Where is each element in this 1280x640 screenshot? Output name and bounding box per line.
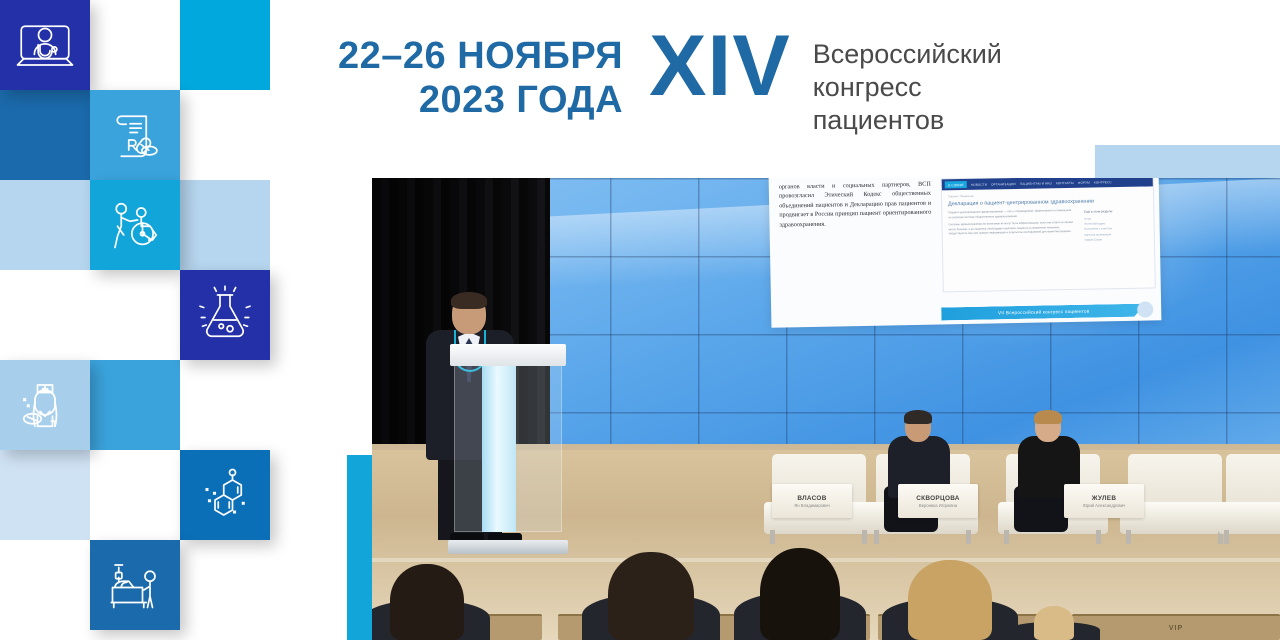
molecule-structure-icon [195, 465, 255, 525]
slide-logo-icon [1137, 301, 1153, 317]
nameplate-given-name: Ян Владимирович [794, 503, 829, 508]
nurse-medication-icon [15, 375, 75, 435]
audience-head [608, 552, 694, 640]
slide-body-text: органов власти и социальных партнеров, В… [779, 180, 932, 230]
website-sidebar-item: График Союза [1085, 237, 1148, 244]
website-heading: Декларация о пациент-центрированном здра… [948, 197, 1147, 207]
website-nav-item: КОНГРЕСС [1094, 180, 1112, 184]
panelist-hair [1034, 410, 1062, 424]
audience-seat: VIP [1072, 614, 1280, 640]
website-sidebar: Ещё в этом разделе: УставЭтический кодек… [1084, 208, 1148, 243]
tile-plain-lightblue-3 [0, 450, 90, 540]
event-dates-line2: 2023 ГОДА [338, 78, 623, 122]
poster-canvas: 22–26 НОЯБРЯ 2023 ГОДА XIV Всероссийский… [0, 0, 1280, 640]
tile-plain-blue-1 [0, 90, 90, 180]
prescription-pills-icon [105, 105, 165, 165]
nameplate-surname: ВЛАСОВ [797, 495, 826, 502]
icon-mosaic [0, 0, 290, 640]
tile-plain-lightblue-2 [180, 180, 270, 270]
hospital-bed-icon [105, 555, 165, 615]
congress-hall-photo: органов власти и социальных партнеров, В… [372, 178, 1280, 640]
tile-hospital-bed [90, 540, 180, 630]
congress-title: Всероссийский конгресс пациентов [813, 38, 1002, 137]
website-sidebar-items: УставЭтический кодексПоложения о членств… [1084, 215, 1148, 243]
website-nav-item: О СОЮЗЕ [945, 181, 967, 188]
projected-slide: органов власти и социальных партнеров, В… [769, 178, 1162, 328]
event-dates: 22–26 НОЯБРЯ 2023 ГОДА [338, 34, 623, 122]
edition-roman-numeral: XIV [649, 26, 791, 108]
tile-prescription [90, 90, 180, 180]
audience-head [908, 560, 992, 640]
speaker-hair [451, 292, 487, 309]
slide-banner: VII Всероссийский конгресс пациентов [941, 304, 1146, 321]
tile-plain-blue-2 [90, 360, 180, 450]
slide-website-mockup: О СОЮЗЕНОВОСТИОРГАНИЗАЦИИПАЦИЕНТАМ И НКО… [941, 178, 1156, 292]
website-body: Главная / Пациентам Декларация о пациент… [942, 186, 1154, 242]
lectern-lit-column [482, 364, 516, 532]
tile-plain-white-1 [90, 0, 180, 90]
website-nav-item: ФОРУМ [1078, 180, 1090, 184]
tile-plain-white-2 [180, 90, 270, 180]
lectern-top [450, 344, 566, 366]
tile-research [180, 270, 270, 360]
audience-head [1034, 606, 1074, 640]
poster-header: 22–26 НОЯБРЯ 2023 ГОДА XIV Всероссийский… [338, 34, 1002, 137]
tile-nurse [0, 360, 90, 450]
website-nav-item: КОНТАКТЫ [1056, 180, 1074, 184]
website-paragraph-2: Системы здравоохранения во всем мире не … [949, 221, 1075, 237]
tile-chemistry [180, 450, 270, 540]
tile-telemedicine [0, 0, 90, 90]
nameplate-given-name: Юрий Александрович [1083, 503, 1125, 508]
website-nav-item: НОВОСТИ [971, 182, 987, 186]
doctor-monitor-icon [15, 15, 75, 75]
tile-plain-lightblue-1 [0, 180, 90, 270]
wheelchair-assistance-icon [105, 195, 165, 255]
website-paragraph-1: Пациент-центрированное здравоохранение —… [948, 209, 1074, 221]
slide-banner-text: VII Всероссийский конгресс пациентов [998, 309, 1090, 316]
tile-plain-cyan-1 [180, 0, 270, 90]
website-nav-item: ПАЦИЕНТАМ И НКО [1020, 181, 1052, 186]
website-sidebar-title: Ещё в этом разделе: [1084, 208, 1147, 213]
panelist-nameplate: СКВОРЦОВА Вероника Игоревна [898, 484, 978, 518]
website-nav-item: ОРГАНИЗАЦИИ [991, 182, 1016, 186]
panelist-hair [904, 410, 932, 424]
nameplate-surname: ЖУЛЕВ [1092, 495, 1117, 502]
nameplate-given-name: Вероника Игоревна [919, 503, 957, 508]
nameplate-surname: СКВОРЦОВА [916, 495, 959, 502]
foreground-audience: VIPVIPVIPVIPVIP [372, 520, 1280, 640]
event-dates-line1: 22–26 НОЯБРЯ [338, 34, 623, 78]
audience-seat-label: VIP [1169, 625, 1183, 632]
audience-head [760, 548, 840, 640]
panelist-nameplate: ЖУЛЕВ Юрий Александрович [1064, 484, 1144, 518]
panelist-nameplate: ВЛАСОВ Ян Владимирович [772, 484, 852, 518]
tile-wheelchair [90, 180, 180, 270]
flask-research-icon [195, 285, 255, 345]
audience-head [390, 564, 464, 640]
